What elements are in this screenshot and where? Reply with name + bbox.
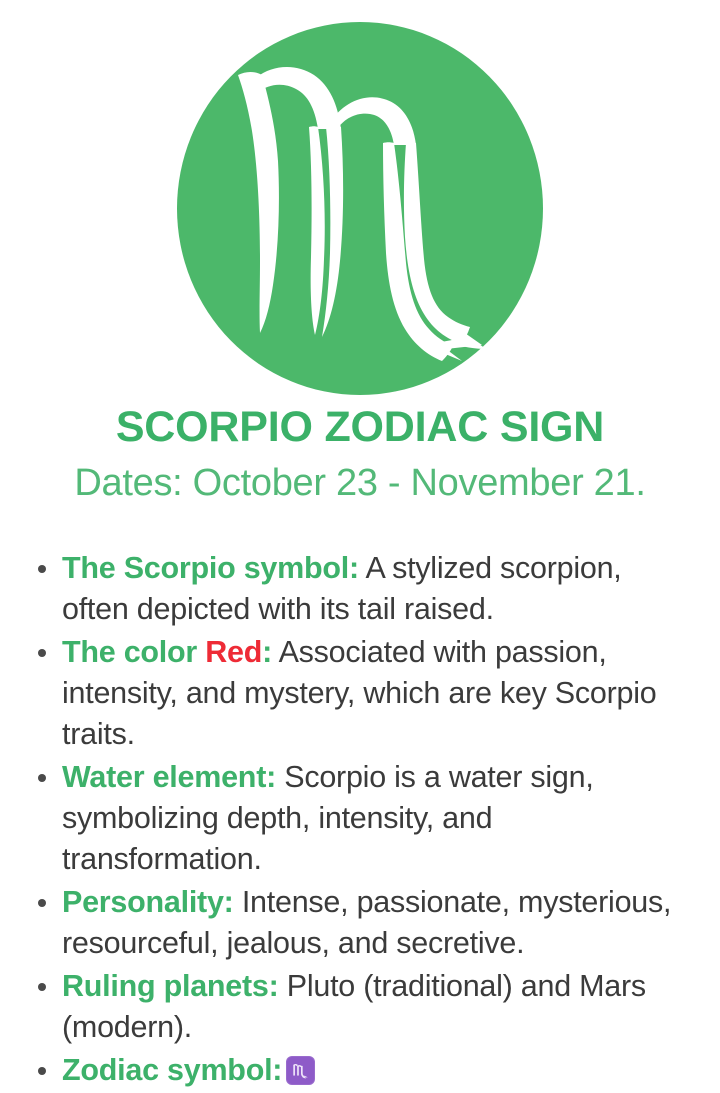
list-item: Personality: Intense, passionate, myster… [0, 882, 720, 964]
page-subtitle: Dates: October 23 - November 21. [0, 462, 720, 506]
scorpio-emblem-circle [177, 22, 543, 395]
list-item: Zodiac symbol: [0, 1050, 720, 1091]
bullet-dot-icon [38, 1067, 46, 1075]
list-item-label: Zodiac symbol: [62, 1053, 282, 1087]
bullet-dot-icon [38, 649, 46, 657]
list-item-label: Personality: [62, 885, 234, 919]
zodiac-facts-list: The Scorpio symbol: A stylized scorpion,… [0, 548, 720, 1093]
emblem-container [0, 22, 720, 395]
list-item: Ruling planets: Pluto (traditional) and … [0, 966, 720, 1048]
list-item: Water element: Scorpio is a water sign, … [0, 757, 720, 880]
scorpio-zodiac-emoji [286, 1056, 315, 1085]
scorpio-glyph-icon [210, 49, 510, 369]
bullet-dot-icon [38, 983, 46, 991]
bullet-dot-icon [38, 774, 46, 782]
list-item-label: Red [205, 635, 262, 669]
list-item-label: The Scorpio symbol: [62, 551, 359, 585]
zodiac-info-card: SCORPIO ZODIAC SIGN Dates: October 23 - … [0, 0, 720, 1080]
bullet-dot-icon [38, 899, 46, 907]
list-item-label: The color [62, 635, 205, 669]
list-item: The Scorpio symbol: A stylized scorpion,… [0, 548, 720, 630]
bullet-dot-icon [38, 565, 46, 573]
list-item-label: Water element: [62, 760, 276, 794]
list-item-label: Ruling planets: [62, 969, 279, 1003]
page-title: SCORPIO ZODIAC SIGN [0, 404, 720, 450]
list-item: The color Red: Associated with passion, … [0, 632, 720, 755]
list-item-label: : [262, 635, 272, 669]
